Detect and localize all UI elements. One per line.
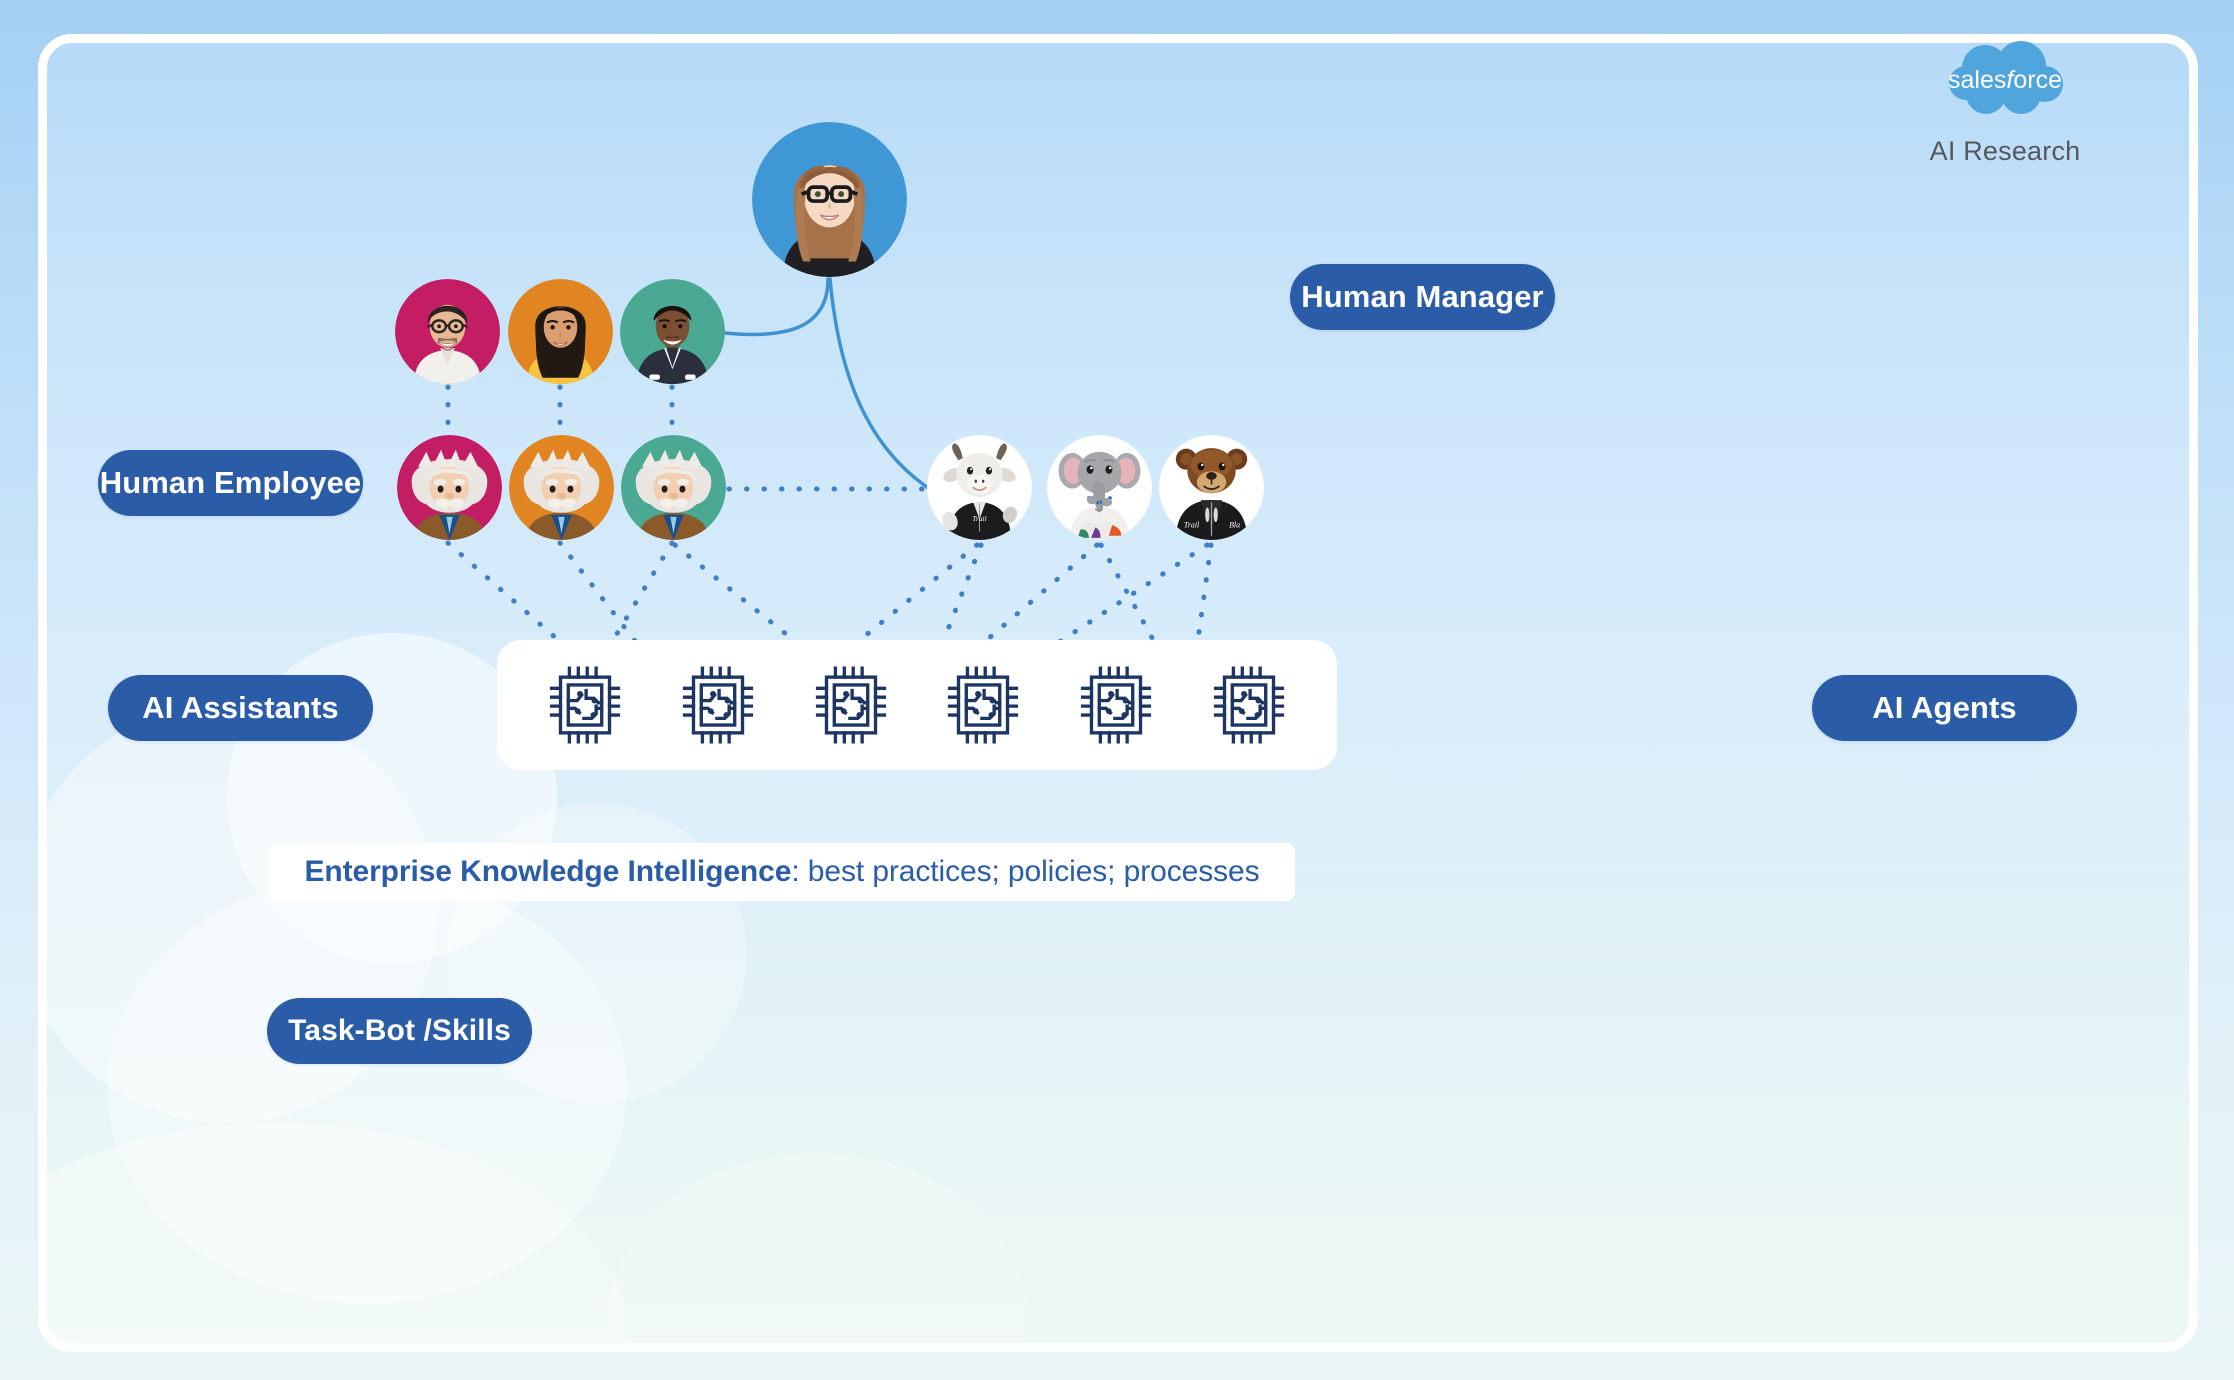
task-bot-chip-2[interactable] <box>682 666 754 744</box>
task-bot-chip-3[interactable] <box>815 666 887 744</box>
branding: salesforce AI Research <box>1890 38 2120 167</box>
ai-agent-bear-codey[interactable]: Trail Bla <box>1159 435 1264 540</box>
salesforce-cloud-logo: salesforce <box>1941 38 2069 128</box>
human-employee-avatar-2[interactable] <box>508 279 613 384</box>
ai-assistant-einstein-3[interactable] <box>621 435 726 540</box>
label-task-bot-skills[interactable]: Task-Bot /Skills <box>267 998 532 1064</box>
task-bot-panel <box>497 640 1337 770</box>
ai-assistant-einstein-1[interactable] <box>397 435 502 540</box>
brand-subtitle: AI Research <box>1890 136 2120 167</box>
label-ai-agents[interactable]: AI Agents <box>1812 675 2077 741</box>
label-ai-assistants[interactable]: AI Assistants <box>108 675 373 741</box>
salesforce-wordmark: salesforce <box>1948 66 2062 94</box>
human-manager-avatar[interactable] <box>752 122 907 277</box>
slide-background: Human Manager Human Employee AI Assistan… <box>0 0 2234 1380</box>
human-employee-avatar-1[interactable] <box>395 279 500 384</box>
svg-text:Trail: Trail <box>1184 520 1200 529</box>
edge-manager-employee3 <box>725 279 828 334</box>
ai-agent-elephant-appy[interactable] <box>1047 435 1152 540</box>
enterprise-knowledge-banner: Enterprise Knowledge Intelligence: best … <box>269 843 1295 901</box>
task-bot-chip-4[interactable] <box>947 666 1019 744</box>
task-bot-chip-6[interactable] <box>1213 666 1285 744</box>
ai-agent-goat-cloudy[interactable]: Trail <box>927 435 1032 540</box>
task-bot-chip-5[interactable] <box>1080 666 1152 744</box>
task-bot-chip-1[interactable] <box>549 666 621 744</box>
main-panel: Human Manager Human Employee AI Assistan… <box>38 34 2198 1352</box>
knowledge-banner-title: Enterprise Knowledge Intelligence <box>305 855 792 889</box>
svg-text:Bla: Bla <box>1229 520 1240 529</box>
label-human-employee[interactable]: Human Employee <box>98 450 363 516</box>
task-bot-chip-row <box>497 640 1337 770</box>
knowledge-banner-detail: : best practices; policies; processes <box>791 855 1259 889</box>
human-employee-avatar-3[interactable] <box>620 279 725 384</box>
ai-assistant-einstein-2[interactable] <box>509 435 614 540</box>
svg-text:Trail: Trail <box>972 514 986 523</box>
label-human-manager[interactable]: Human Manager <box>1290 264 1555 330</box>
